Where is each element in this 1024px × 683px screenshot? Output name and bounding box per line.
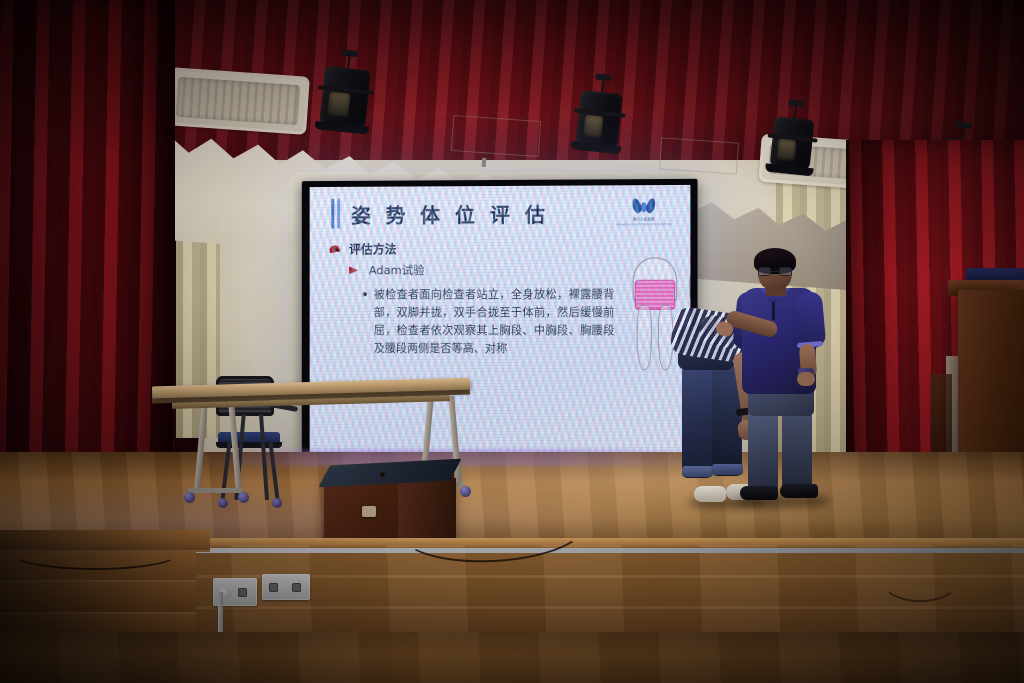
slide-title: 姿 势 体 位 评 估 <box>351 199 549 229</box>
stage-light-3 <box>769 116 814 172</box>
power-cable <box>10 536 180 570</box>
chair-caster <box>272 498 282 508</box>
ceiling-access-panel <box>659 137 739 174</box>
slide-bullet-level1: 评估方法 <box>329 240 396 257</box>
slide-bullet-level2: Adam试验 <box>349 262 424 278</box>
table-foot <box>188 488 242 493</box>
presenter-leg-right <box>782 408 812 490</box>
subject-leg-left <box>682 362 712 478</box>
title-accent-bars <box>331 199 343 229</box>
ceiling-access-panel <box>451 115 541 157</box>
presenter-sleeve-right <box>796 291 827 349</box>
light-lens-icon <box>327 92 350 118</box>
stage-metal-trim <box>196 548 1024 553</box>
hospital-logo-sub: SHANGHAI SIXTH PEOPLE'S HOSPITAL <box>616 223 672 226</box>
light-lens-icon <box>777 138 797 161</box>
light-lens-icon <box>583 114 604 138</box>
slide-level2-text: Adam试验 <box>369 262 425 278</box>
presentation-slide[interactable]: 姿 势 体 位 评 估 第六人民医院 SHANGHAI SIXTH PEOPLE… <box>310 185 691 454</box>
table-caster <box>184 492 195 503</box>
socket-outlet-icon <box>238 588 247 597</box>
subject-sneaker-left <box>694 486 726 502</box>
presenter-hand-right <box>797 372 815 386</box>
power-socket-plate[interactable] <box>262 574 310 600</box>
slide-body-text: 被检查者面向检查者站立，全身放松，裸露腰背部，双脚并拢，双手合拢至于体前，然后缓… <box>374 286 615 358</box>
air-conditioning-vent <box>166 67 310 135</box>
hospital-logo-name: 第六人民医院 <box>633 216 655 221</box>
figure-hip <box>689 257 690 308</box>
presenter-shoe-left <box>740 486 778 500</box>
arrow-bullet-icon <box>349 266 358 274</box>
power-cable <box>880 556 960 602</box>
subject-jeans-cuff <box>682 466 713 477</box>
side-chair <box>930 374 952 452</box>
stage-light-1 <box>319 66 371 130</box>
slide-level1-text: 评估方法 <box>349 240 396 257</box>
subject-legs <box>682 362 744 478</box>
crate-power-plug <box>362 506 376 517</box>
subject-jeans-cuff <box>712 464 743 475</box>
ceiling-hook <box>482 158 487 167</box>
hospital-logo-icon <box>633 198 655 214</box>
house-floor-shading <box>0 632 1024 683</box>
auditorium-scene: 姿 势 体 位 评 估 第六人民医院 SHANGHAI SIXTH PEOPLE… <box>0 0 1024 683</box>
crate-hole <box>380 472 385 477</box>
eyeglasses-icon <box>758 267 792 276</box>
vent-grille-icon <box>176 77 300 125</box>
table-caster <box>238 492 249 503</box>
figure-leg-left <box>637 305 652 370</box>
presenter-leg-left <box>748 408 778 490</box>
chair-caster <box>218 498 228 508</box>
stage-light-2 <box>575 90 623 150</box>
presenter-shoe-right <box>780 484 818 498</box>
dot-bullet-icon <box>363 292 367 296</box>
hospital-logo: 第六人民医院 SHANGHAI SIXTH PEOPLE'S HOSPITAL <box>613 197 674 227</box>
comma-bullet-icon <box>329 245 340 254</box>
led-screen-frame: 姿 势 体 位 评 估 第六人民医院 SHANGHAI SIXTH PEOPLE… <box>302 179 698 461</box>
slide-bullet-level3: 被检查者面向检查者站立，全身放松，裸露腰背部，双脚并拢，双手合拢至于体前，然后缓… <box>363 286 615 358</box>
socket-outlet-icon <box>269 583 278 592</box>
socket-outlet-icon <box>292 583 301 592</box>
anatomy-figure-1 <box>633 258 678 371</box>
